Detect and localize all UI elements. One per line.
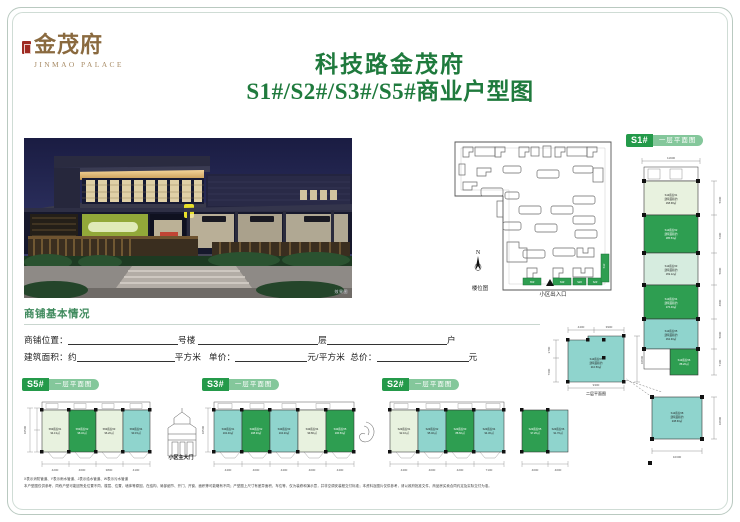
brand-name-en: JINMAO PALACE <box>22 60 142 69</box>
svg-text:建筑面积约: 建筑面积约 <box>665 268 678 272</box>
location-unit-field[interactable] <box>327 335 447 345</box>
area-label: 建筑面积：约 <box>24 352 77 362</box>
svg-text:4000: 4000 <box>253 468 260 472</box>
svg-text:168.68㎡: 168.68㎡ <box>666 201 677 205</box>
svg-text:S5#: S5# <box>530 280 535 284</box>
svg-text:建筑面积约: 建筑面积约 <box>665 232 678 236</box>
svg-text:S2#商业01: S2#商业01 <box>398 427 411 431</box>
community-main-gate-icon <box>168 408 196 456</box>
svg-text:3800: 3800 <box>106 468 113 472</box>
svg-text:88.20㎡: 88.20㎡ <box>679 362 688 366</box>
svg-text:N: N <box>476 250 481 256</box>
svg-text:7200: 7200 <box>718 232 722 239</box>
svg-text:S2#商业03: S2#商业03 <box>454 427 467 431</box>
svg-text:95.40㎡: 95.40㎡ <box>427 431 436 435</box>
svg-text:91.70㎡: 91.70㎡ <box>553 431 562 435</box>
footnote-line-2: 本户型图仅供参考，同栋户型可能因所处位置不同，楼层、位置、墙体等原因，在结构、局… <box>24 483 714 490</box>
svg-text:10500: 10500 <box>202 425 205 434</box>
svg-text:S1#: S1# <box>602 263 606 268</box>
svg-text:5000: 5000 <box>718 267 722 274</box>
unitprice-label: 单价： <box>209 352 235 362</box>
svg-text:96.20㎡: 96.20㎡ <box>104 431 113 435</box>
info-heading: 商铺基本情况 <box>24 306 544 321</box>
svg-text:94.13㎡: 94.13㎡ <box>50 431 59 435</box>
panel-s1: S1# 一层平面图 11900 S1#商业01 建筑面积约 168.68㎡ S1… <box>626 134 736 486</box>
location-building-unit: 号楼 <box>178 335 196 345</box>
svg-text:S3#商业05: S3#商业05 <box>334 427 347 431</box>
svg-text:S2#商业04: S2#商业04 <box>483 427 496 431</box>
panel-s1-id: S1# <box>626 134 653 147</box>
svg-text:S2#商业06: S2#商业06 <box>552 427 565 431</box>
panel-s1-tag: S1# 一层平面图 <box>626 134 712 147</box>
svg-text:S5#商业04: S5#商业04 <box>130 427 143 431</box>
svg-text:3700: 3700 <box>547 346 551 353</box>
svg-text:10800: 10800 <box>718 416 722 425</box>
svg-text:S2#: S2# <box>593 280 598 284</box>
info-divider <box>24 324 540 325</box>
svg-text:3900: 3900 <box>606 325 613 329</box>
totalprice-unit: 元 <box>469 352 478 362</box>
svg-text:S1#商业01: S1#商业01 <box>665 193 678 197</box>
svg-text:11900: 11900 <box>667 156 675 160</box>
svg-text:S3#商业01: S3#商业01 <box>222 427 235 431</box>
panel-s5-sub: 一层平面图 <box>46 379 100 390</box>
svg-text:4400: 4400 <box>337 468 344 472</box>
svg-text:93.15㎡: 93.15㎡ <box>131 431 140 435</box>
svg-text:88.60㎡: 88.60㎡ <box>455 431 464 435</box>
svg-text:S2#商业05: S2#商业05 <box>529 427 542 431</box>
svg-text:4000: 4000 <box>532 468 539 472</box>
svg-text:4400: 4400 <box>578 325 585 329</box>
location-floor-field[interactable] <box>198 335 318 345</box>
svg-text:建筑面积约: 建筑面积约 <box>665 197 678 201</box>
panel-s1-sub: 一层平面图 <box>650 135 704 146</box>
svg-text:4000: 4000 <box>309 468 316 472</box>
svg-text:185.53㎡: 185.53㎡ <box>666 236 677 240</box>
footnote-line-1: X表示消防管道、Y表示雨水管道、J表示给水管道、W表示污水管道 <box>24 476 714 483</box>
svg-text:10500: 10500 <box>23 425 27 434</box>
svg-text:102.40㎡: 102.40㎡ <box>223 431 234 435</box>
svg-text:210.50㎡: 210.50㎡ <box>591 365 602 369</box>
svg-text:104.20㎡: 104.20㎡ <box>279 431 290 435</box>
svg-text:108.30㎡: 108.30㎡ <box>251 431 262 435</box>
svg-text:S3#: S3# <box>560 280 565 284</box>
svg-text:4400: 4400 <box>281 468 288 472</box>
location-label: 商铺位置： <box>24 335 68 345</box>
red-seal-icon <box>22 41 31 54</box>
svg-text:4200: 4200 <box>52 468 59 472</box>
svg-text:4600: 4600 <box>79 468 86 472</box>
svg-text:建筑面积约: 建筑面积约 <box>665 301 678 305</box>
panel-s2-id: S2# <box>382 378 409 391</box>
svg-text:建筑面积约: 建筑面积约 <box>671 415 684 419</box>
location-floor-unit: 层 <box>318 335 327 345</box>
panel-s3-id: S3# <box>202 378 229 391</box>
svg-text:10300: 10300 <box>673 455 682 459</box>
svg-text:4100: 4100 <box>133 468 140 472</box>
unitprice-unit: 元/平方米 <box>307 352 345 362</box>
svg-text:4400: 4400 <box>401 468 408 472</box>
svg-text:99.80㎡: 99.80㎡ <box>307 431 316 435</box>
svg-text:4400: 4400 <box>225 468 232 472</box>
location-unit-suffix: 户 <box>447 335 456 345</box>
svg-text:S1#商业08: S1#商业08 <box>671 411 684 415</box>
floorplan-brochure: 金茂府 JINMAO PALACE 科技路金茂府 S1#/S2#/S3#/S5#… <box>0 0 740 522</box>
svg-text:97.20㎡: 97.20㎡ <box>530 431 539 435</box>
svg-text:5000: 5000 <box>718 331 722 338</box>
s1-detail-sub: 二层平面图 <box>586 390 606 396</box>
svg-text:S5#商业03: S5#商业03 <box>103 427 116 431</box>
title-line-1: 科技路金茂府 <box>180 52 600 78</box>
panel-s2: S2# 一层平面图 S2#商业01 92.10㎡ S2#商业02 95.40㎡ … <box>382 378 572 477</box>
shop-basic-info-section: 商铺基本情况 商铺位置：号楼 层户 建筑面积：约平方米 单价：元/平方米 总价：… <box>24 306 544 366</box>
svg-text:106.50㎡: 106.50㎡ <box>335 431 346 435</box>
page-title: 科技路金茂府 S1#/S2#/S3#/S5#商业户型图 <box>180 52 600 107</box>
svg-text:S1#商业03: S1#商业03 <box>665 264 678 268</box>
svg-text:7600: 7600 <box>547 368 551 375</box>
panel-s3-tag: S3# 一层平面图 <box>202 378 288 391</box>
panel-s5-tag: S5# 一层平面图 <box>22 378 108 391</box>
panel-s5-id: S5# <box>22 378 49 391</box>
svg-text:98.32㎡: 98.32㎡ <box>77 431 86 435</box>
svg-text:92.10㎡: 92.10㎡ <box>399 431 408 435</box>
svg-text:S5#商业02: S5#商业02 <box>76 427 89 431</box>
brand-name-cn: 金茂府 <box>34 34 103 56</box>
info-row-area-price: 建筑面积：约平方米 单价：元/平方米 总价：元 <box>24 349 544 366</box>
svg-text:S1#商业02: S1#商业02 <box>665 228 678 232</box>
svg-text:S3#商业03: S3#商业03 <box>278 427 291 431</box>
panel-s3: S3# 一层平面图 10500 S3#商业01 102.40㎡ S3#商业02 … <box>202 378 382 477</box>
brand-logo: 金茂府 JINMAO PALACE <box>22 34 142 69</box>
svg-text:169.12㎡: 169.12㎡ <box>666 272 677 276</box>
svg-text:建筑面积约: 建筑面积约 <box>590 361 603 365</box>
svg-text:S2#: S2# <box>577 280 582 284</box>
svg-text:4000: 4000 <box>429 468 436 472</box>
svg-text:S2#商业02: S2#商业02 <box>426 427 439 431</box>
svg-text:7100: 7100 <box>718 359 722 366</box>
totalprice-field[interactable] <box>377 352 469 362</box>
svg-text:S1#商业04: S1#商业04 <box>665 297 678 301</box>
title-line-2: S1#/S2#/S3#/S5#商业户型图 <box>180 78 600 107</box>
unitprice-field[interactable] <box>235 352 307 362</box>
siteplan-caption: 楼位图 <box>459 284 501 292</box>
svg-text:S1#商业06: S1#商业06 <box>678 358 691 362</box>
svg-text:94.30㎡: 94.30㎡ <box>484 431 493 435</box>
area-field[interactable] <box>77 352 175 362</box>
decorative-scroll-icon <box>359 422 374 442</box>
svg-text:S3#商业04: S3#商业04 <box>306 427 319 431</box>
site-location-map: S5# S3# S2# S2# S1# N 楼位图 小区出入口 <box>437 138 619 298</box>
panel-s2-sub: 一层平面图 <box>406 379 460 390</box>
panel-s5: S5# 一层平面图 10500 S5#商业01 94.13㎡ <box>22 378 202 477</box>
siteplan-entrance-label: 小区出入口 <box>521 290 585 298</box>
svg-text:9300: 9300 <box>593 383 600 387</box>
svg-text:S1#商业07: S1#商业07 <box>590 357 603 361</box>
totalprice-label: 总价： <box>350 352 376 362</box>
svg-text:10800: 10800 <box>640 355 644 364</box>
svg-text:4200: 4200 <box>457 468 464 472</box>
svg-text:S5#商业01: S5#商业01 <box>49 427 62 431</box>
footnote-disclaimer: X表示消防管道、Y表示雨水管道、J表示给水管道、W表示污水管道 本户型图仅供参考… <box>24 476 714 490</box>
hero-watermark: 效果图 <box>335 289 349 295</box>
panel-s2-tag: S2# 一层平面图 <box>382 378 468 391</box>
svg-text:5600: 5600 <box>718 196 722 203</box>
svg-text:S3#商业02: S3#商业02 <box>250 427 263 431</box>
panel-s3-sub: 一层平面图 <box>226 379 280 390</box>
location-building-field[interactable] <box>68 335 178 345</box>
hero-rendering-image: 效果图 <box>24 138 352 298</box>
compass-icon: N <box>475 250 481 271</box>
area-unit: 平方米 <box>175 352 201 362</box>
svg-text:238.60㎡: 238.60㎡ <box>672 419 683 423</box>
info-row-location: 商铺位置：号楼 层户 <box>24 332 544 349</box>
svg-text:4800: 4800 <box>718 299 722 306</box>
svg-text:4000: 4000 <box>555 468 562 472</box>
svg-text:176.40㎡: 176.40㎡ <box>666 305 677 309</box>
svg-text:7100: 7100 <box>486 468 493 472</box>
